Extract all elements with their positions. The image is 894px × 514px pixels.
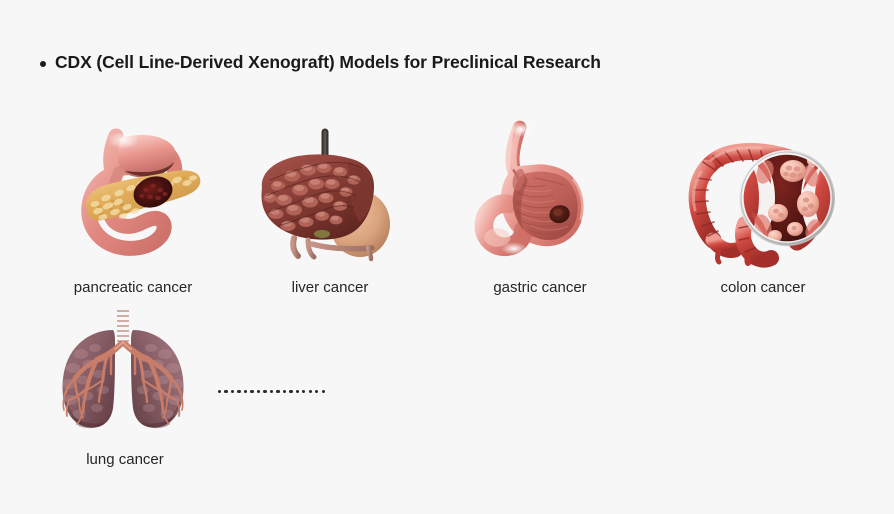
page-title-text: CDX (Cell Line-Derived Xenograft) Models…	[55, 52, 601, 73]
ellipsis-dots-icon	[218, 390, 325, 393]
ellipsis-dot	[296, 390, 299, 393]
ellipsis-dot	[237, 390, 240, 393]
ellipsis-dot	[315, 390, 318, 393]
colon-with-magnifier-polyps-illustration	[683, 128, 843, 263]
organ-card-lung: lung cancer	[40, 302, 210, 468]
ellipsis-dot	[218, 390, 221, 393]
stomach-cutaway-with-lesion-illustration	[460, 122, 620, 257]
ellipsis-dot	[263, 390, 266, 393]
organ-label-gastric: gastric cancer	[493, 279, 586, 296]
organ-label-colon: colon cancer	[720, 279, 805, 296]
organ-label-lung: lung cancer	[86, 451, 164, 468]
ellipsis-dot	[244, 390, 247, 393]
ellipsis-dot	[231, 390, 234, 393]
ellipsis-dot	[322, 390, 325, 393]
ellipsis-dot	[224, 390, 227, 393]
organ-label-pancreatic: pancreatic cancer	[74, 279, 192, 296]
page-title: CDX (Cell Line-Derived Xenograft) Models…	[40, 52, 601, 73]
pancreas-with-tumor-illustration	[53, 128, 213, 263]
ellipsis-dot	[309, 390, 312, 393]
organ-card-pancreatic: pancreatic cancer	[48, 128, 218, 296]
organ-card-gastric: gastric cancer	[455, 122, 625, 296]
slide-canvas: { "slide": { "bullet_icon": "bullet-dot-…	[0, 0, 894, 514]
bullet-dot-icon	[40, 61, 46, 67]
lungs-with-bronchial-tree-illustration	[45, 302, 205, 437]
cirrhotic-liver-illustration	[250, 128, 410, 263]
ellipsis-dot	[250, 390, 253, 393]
organ-label-liver: liver cancer	[292, 279, 369, 296]
ellipsis-dot	[302, 390, 305, 393]
organ-card-colon: colon cancer	[678, 128, 848, 296]
ellipsis-dot	[276, 390, 279, 393]
ellipsis-dot	[289, 390, 292, 393]
ellipsis-dot	[270, 390, 273, 393]
organ-card-liver: liver cancer	[245, 128, 415, 296]
ellipsis-dot	[283, 390, 286, 393]
ellipsis-dot	[257, 390, 260, 393]
